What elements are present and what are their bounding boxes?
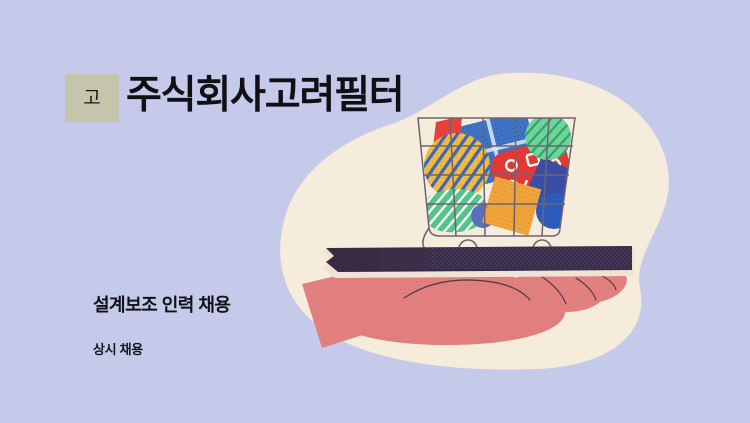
job-position-headline: 설계보조 인력 채용 [93,291,230,317]
recruitment-banner: 고 주식회사고려필터 설계보조 인력 채용 상시 채용 [0,0,750,423]
job-hiring-type-subline: 상시 채용 [93,339,143,358]
logo-mark-character: 고 [83,89,100,108]
company-name-title: 주식회사고려필터 [126,72,403,121]
text-content: 고 주식회사고려필터 설계보조 인력 채용 상시 채용 [0,0,750,423]
company-logo-badge: 고 [65,74,119,122]
